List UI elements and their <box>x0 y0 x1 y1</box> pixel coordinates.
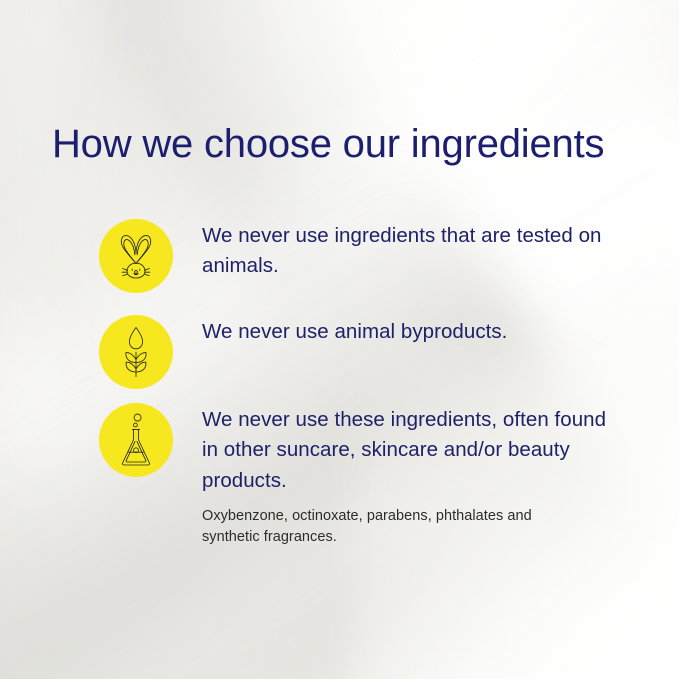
page-title: How we choose our ingredients <box>52 122 604 168</box>
list-item-sublabel: Oxybenzone, octinoxate, parabens, phthal… <box>202 506 562 547</box>
icon-badge <box>99 219 173 293</box>
list-item-label: We never use these ingredients, often fo… <box>202 405 607 496</box>
erlenmeyer-flask-icon <box>118 413 154 467</box>
icon-badge <box>99 403 173 477</box>
list-item-text-block: We never use ingredients that are tested… <box>202 219 602 282</box>
plant-sprig-leaf-icon <box>119 326 153 378</box>
list-item-text-block: We never use animal byproducts. <box>202 315 507 347</box>
list-item-label: We never use ingredients that are tested… <box>202 221 602 282</box>
list-item: We never use ingredients that are tested… <box>99 219 639 293</box>
bunny-heart-ears-icon <box>116 233 156 279</box>
list-item: We never use these ingredients, often fo… <box>99 403 639 547</box>
list-item-text-block: We never use these ingredients, often fo… <box>202 403 607 547</box>
list-item: We never use animal byproducts. <box>99 315 639 389</box>
list-item-label: We never use animal byproducts. <box>202 317 507 347</box>
ingredient-principles-list: We never use ingredients that are tested… <box>99 219 639 547</box>
content-root: How we choose our ingredients <box>0 0 679 679</box>
icon-badge <box>99 315 173 389</box>
